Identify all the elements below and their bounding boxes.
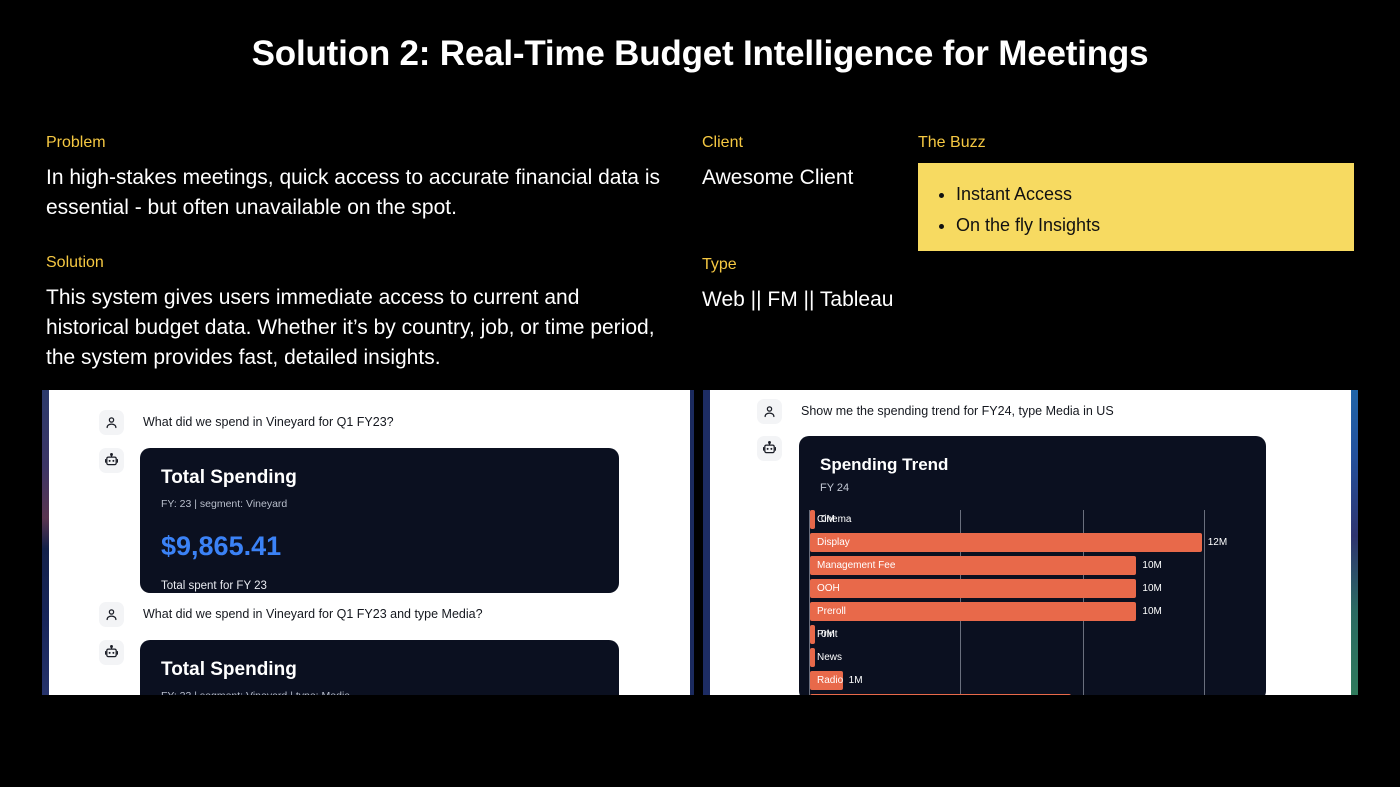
panel-edge-right — [690, 390, 694, 695]
bar-row: SEM8M — [810, 694, 1266, 695]
chat-row — [757, 436, 782, 461]
bar-row: Display12M — [810, 533, 1266, 552]
solution-label: Solution — [46, 251, 666, 275]
buzz-column: The Buzz Instant Access On the fly Insig… — [918, 131, 1358, 251]
card-subtitle: FY: 23 | segment: Vineyard — [161, 497, 598, 511]
card-title: Total Spending — [161, 658, 598, 682]
panel-edge-gradient-left — [42, 390, 49, 695]
card-amount: $9,865.41 — [161, 530, 598, 562]
list-item: Instant Access — [956, 179, 1354, 210]
list-item: On the fly Insights — [956, 210, 1354, 241]
screenshot-panel-left: What did we spend in Vineyard for Q1 FY2… — [42, 390, 694, 695]
bar — [810, 533, 1202, 552]
chat-transcript-right: Show me the spending trend for FY24, typ… — [710, 390, 1351, 695]
card-subtitle: FY: 23 | segment: Vineyard | type: Media — [161, 689, 598, 695]
chart-title: Spending Trend — [820, 454, 1266, 476]
buzz-box: Instant Access On the fly Insights — [918, 163, 1354, 251]
bar-value-label: 10M — [1142, 579, 1161, 598]
bar-value-label: 12M — [1208, 533, 1227, 552]
person-icon — [757, 399, 782, 424]
bar-row: Print0M — [810, 625, 1266, 644]
panel-edge-left — [703, 390, 710, 695]
chart-subtitle: FY 24 — [820, 481, 1266, 495]
problem-label: Problem — [46, 131, 666, 155]
bar — [810, 625, 815, 644]
bar-category-label: Radio — [817, 671, 843, 690]
bar — [810, 694, 1071, 695]
person-icon — [99, 602, 124, 627]
bar-category-label: News — [817, 648, 842, 667]
bar-value-label: 10M — [1142, 556, 1161, 575]
answer-card-total-spending-media: Total Spending FY: 23 | segment: Vineyar… — [140, 640, 619, 695]
chat-row — [99, 448, 124, 473]
chat-row: Show me the spending trend for FY24, typ… — [757, 399, 1114, 424]
bar-chart-plot: Cinema0MDisplay12MManagement Fee10MOOH10… — [809, 510, 1266, 695]
robot-icon — [757, 436, 782, 461]
bar-value-label: 1M — [849, 671, 863, 690]
client-label: Client — [702, 131, 902, 155]
bar-category-label: SEM — [817, 694, 839, 695]
bar — [810, 602, 1136, 621]
bar — [810, 510, 815, 529]
bar-category-label: Display — [817, 533, 850, 552]
user-question: What did we spend in Vineyard for Q1 FY2… — [143, 602, 483, 627]
person-icon — [99, 410, 124, 435]
buzz-label: The Buzz — [918, 131, 1358, 155]
client-type-column: Client Awesome Client Type Web || FM || … — [702, 131, 902, 315]
chat-row: What did we spend in Vineyard for Q1 FY2… — [99, 410, 394, 435]
client-value: Awesome Client — [702, 163, 902, 193]
bar — [810, 579, 1136, 598]
bar-value-label: 8M — [1077, 694, 1091, 695]
solution-text: This system gives users immediate access… — [46, 283, 666, 373]
bar-row: OOH10M — [810, 579, 1266, 598]
bar-category-label: OOH — [817, 579, 840, 598]
chat-row — [99, 640, 124, 665]
bar-value-label: 0M — [821, 625, 835, 644]
type-label: Type — [702, 253, 902, 277]
bar — [810, 648, 815, 667]
panel-edge-gradient-right — [1351, 390, 1358, 695]
chat-row: What did we spend in Vineyard for Q1 FY2… — [99, 602, 483, 627]
user-question: Show me the spending trend for FY24, typ… — [801, 399, 1114, 424]
card-title: Total Spending — [161, 466, 598, 490]
problem-text: In high-stakes meetings, quick access to… — [46, 163, 666, 223]
buzz-list: Instant Access On the fly Insights — [918, 179, 1354, 241]
screenshot-panel-right: Show me the spending trend for FY24, typ… — [703, 390, 1358, 695]
bar-value-label: 10M — [1142, 602, 1161, 621]
bar-row: Cinema0M — [810, 510, 1266, 529]
bar-row: News — [810, 648, 1266, 667]
bar-row: Radio1M — [810, 671, 1266, 690]
bar-row: Management Fee10M — [810, 556, 1266, 575]
bar-value-label: 0M — [821, 510, 835, 529]
user-question: What did we spend in Vineyard for Q1 FY2… — [143, 410, 394, 435]
bar-row: Preroll10M — [810, 602, 1266, 621]
page-title: Solution 2: Real-Time Budget Intelligenc… — [0, 34, 1400, 74]
card-footer: Total spent for FY 23 — [161, 579, 598, 594]
robot-icon — [99, 640, 124, 665]
bar-category-label: Preroll — [817, 602, 846, 621]
left-text-column: Problem In high-stakes meetings, quick a… — [46, 131, 666, 373]
type-value: Web || FM || Tableau — [702, 285, 902, 315]
spending-trend-chart-card: Spending Trend FY 24 Cinema0MDisplay12MM… — [799, 436, 1266, 695]
chat-transcript-left: What did we spend in Vineyard for Q1 FY2… — [49, 390, 687, 695]
robot-icon — [99, 448, 124, 473]
answer-card-total-spending: Total Spending FY: 23 | segment: Vineyar… — [140, 448, 619, 593]
bar-category-label: Management Fee — [817, 556, 895, 575]
